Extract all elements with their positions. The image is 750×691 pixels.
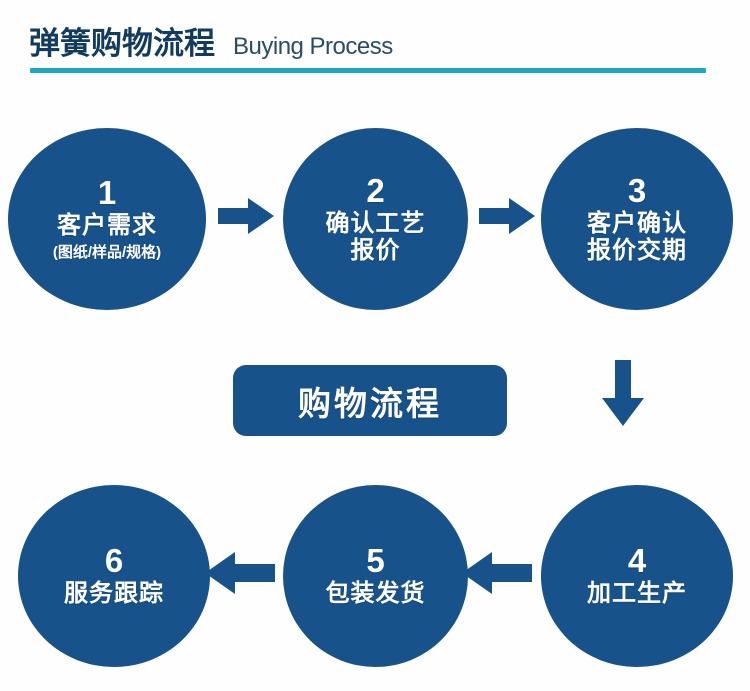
process-node-3-label: 客户确认 报价交期 bbox=[587, 211, 687, 265]
arrow-right-icon-1-to-2 bbox=[218, 196, 274, 236]
arrow-left-icon-5-to-6 bbox=[205, 550, 275, 596]
process-node-5-number: 5 bbox=[366, 544, 384, 577]
process-node-5[interactable]: 5 包装发货 bbox=[283, 485, 468, 667]
arrow-down-icon-3-to-4 bbox=[600, 360, 646, 426]
header-title-group: 弹簧购物流程 Buying Process bbox=[29, 28, 393, 59]
process-node-4[interactable]: 4 加工生产 bbox=[541, 485, 733, 667]
process-node-3[interactable]: 3 客户确认 报价交期 bbox=[541, 128, 733, 310]
process-node-2[interactable]: 2 确认工艺 报价 bbox=[283, 128, 468, 310]
process-node-1-sublabel: (图纸/样品/规格) bbox=[53, 244, 161, 262]
process-node-2-number: 2 bbox=[366, 174, 384, 207]
diagram-header: 弹簧购物流程 Buying Process bbox=[0, 0, 750, 100]
page-title-cn: 弹簧购物流程 bbox=[29, 28, 215, 59]
page-title-en: Buying Process bbox=[233, 35, 393, 59]
center-badge-label: 购物流程 bbox=[298, 377, 442, 425]
process-node-6-number: 6 bbox=[105, 544, 123, 577]
process-node-5-label: 包装发货 bbox=[326, 581, 426, 608]
center-badge[interactable]: 购物流程 bbox=[233, 365, 507, 436]
process-node-1-label: 客户需求 bbox=[57, 213, 157, 240]
process-node-6-label: 服务跟踪 bbox=[64, 581, 164, 608]
process-node-3-number: 3 bbox=[628, 174, 646, 207]
process-node-1[interactable]: 1 客户需求 (图纸/样品/规格) bbox=[8, 128, 206, 310]
process-node-4-number: 4 bbox=[628, 544, 646, 577]
arrow-right-icon-2-to-3 bbox=[479, 196, 535, 236]
process-node-6[interactable]: 6 服务跟踪 bbox=[18, 485, 210, 667]
process-node-4-label: 加工生产 bbox=[587, 581, 687, 608]
arrow-left-icon-4-to-5 bbox=[462, 550, 532, 596]
header-underline-rule bbox=[30, 68, 706, 73]
process-node-2-label: 确认工艺 报价 bbox=[326, 211, 426, 265]
process-node-1-number: 1 bbox=[98, 176, 116, 209]
process-diagram-canvas: 弹簧购物流程 Buying Process 1 客户需求 (图纸/样品/规格) … bbox=[0, 0, 750, 691]
